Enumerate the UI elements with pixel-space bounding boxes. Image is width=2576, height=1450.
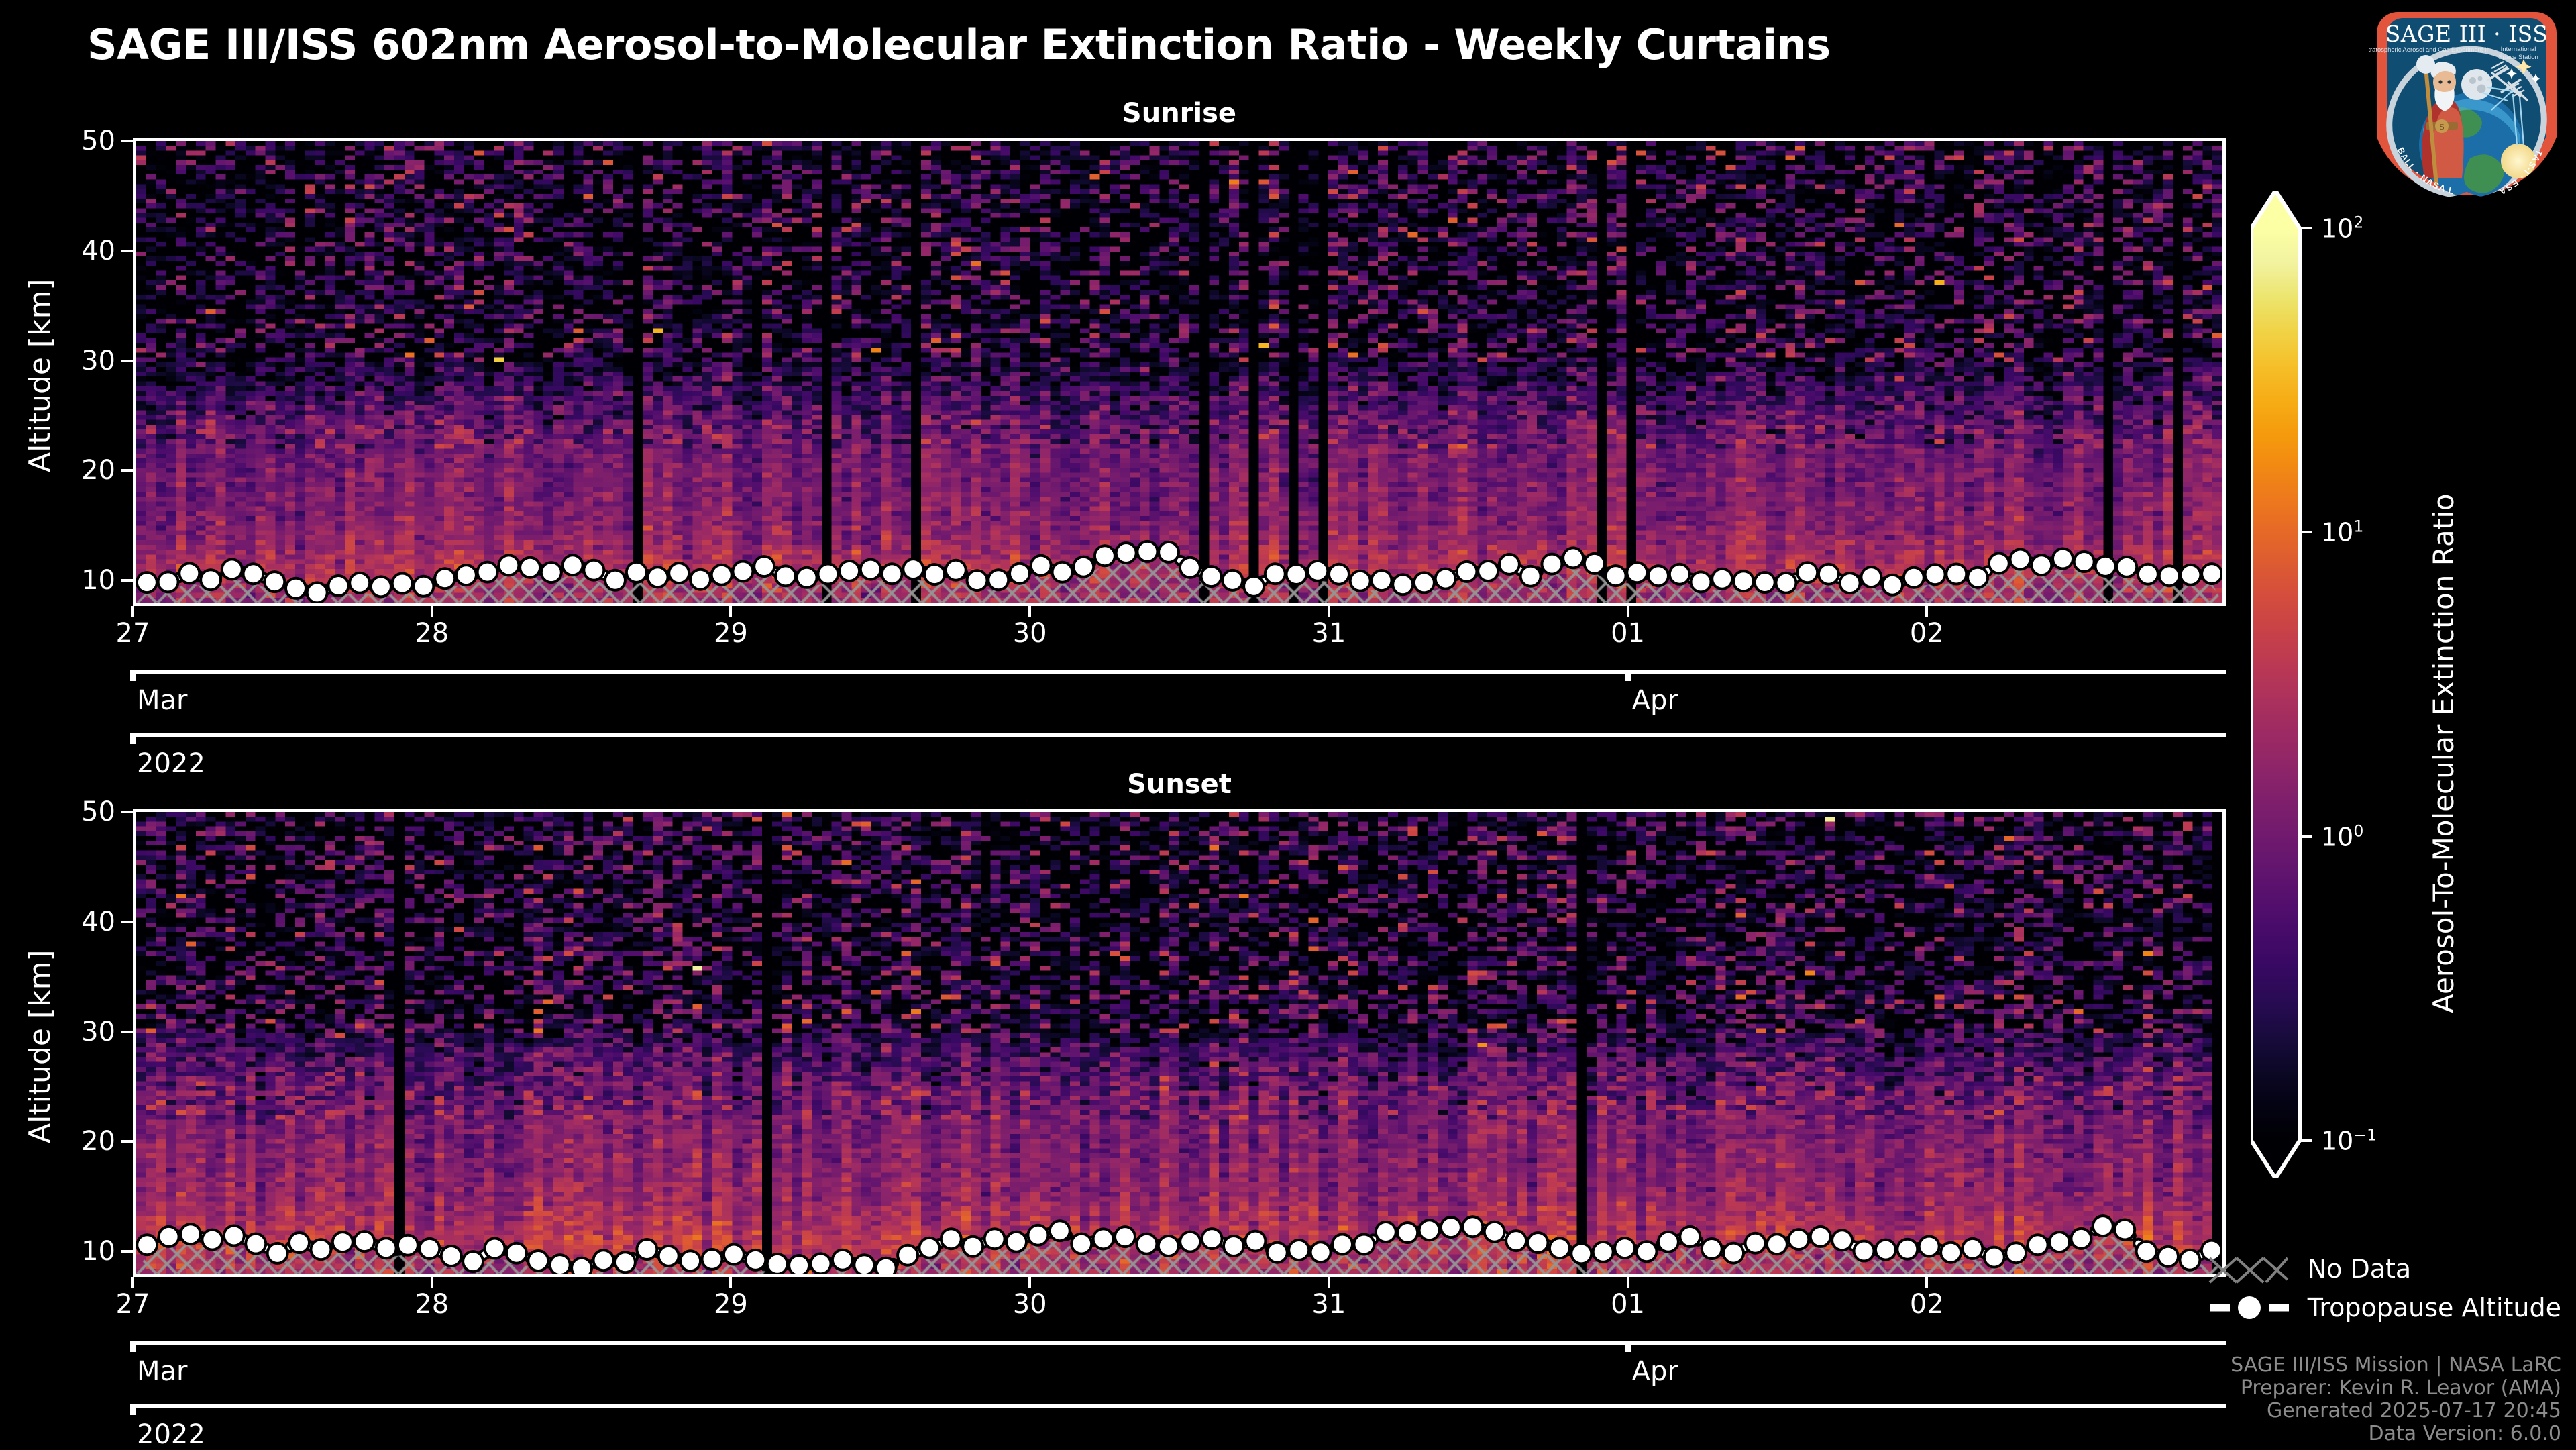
x-tick-label-sunrise-01: 01 [1611,618,1645,649]
y-tick-mark-sunrise-50 [121,140,133,142]
x-month-tick-sunset-1 [1625,1341,1631,1352]
heatmap-panel-sunset[interactable] [133,809,2226,1277]
x-tick-mark-sunrise-02 [1925,606,1928,617]
sage-iii-iss-mission-patch-logo: S BALL · NASA LANGLEY RESEARCH CENTER TA… [2369,3,2564,197]
x-tick-label-sunrise-30: 30 [1013,618,1047,649]
y-tick-mark-sunrise-30 [121,360,133,362]
panel-title-sunset: Sunset [133,769,2226,800]
x-tick-mark-sunrise-01 [1627,606,1629,617]
x-year-label-sunset-0: 2022 [137,1419,205,1450]
y-tick-mark-sunset-40 [121,921,133,923]
y-tick-label-sunset-20: 20 [81,1126,115,1157]
colorbar-tick-mark-3 [2300,227,2312,229]
x-tick-label-sunrise-31: 31 [1311,618,1346,649]
y-tick-label-sunrise-40: 40 [81,236,115,266]
heatmap-panel-sunrise[interactable] [133,138,2226,606]
colorbar-tick-label-1: 100 [2321,821,2363,851]
legend-item-tropopause: Tropopause Altitude [2208,1288,2561,1327]
x-month-label-sunset-1: Apr [1632,1356,1678,1387]
svg-text:Stratospheric Aerosol and Gas: Stratospheric Aerosol and Gas Experiment… [2369,46,2490,53]
y-tick-label-sunrise-20: 20 [81,455,115,486]
colorbar-tick-label-2: 101 [2321,517,2363,548]
legend-label-no-data: No Data [2308,1254,2412,1284]
x-tick-mark-sunrise-28 [431,606,433,617]
x-tick-mark-sunset-27 [131,1277,134,1288]
y-tick-label-sunrise-30: 30 [81,346,115,376]
x-tick-label-sunrise-02: 02 [1910,618,1944,649]
x-tick-mark-sunset-02 [1925,1277,1928,1288]
x-month-label-sunset-0: Mar [137,1356,187,1387]
tropopause-line-swatch [2208,1292,2290,1324]
x-month-rule-sunset [133,1341,2226,1345]
no-data-hatch-swatch [2208,1253,2290,1285]
footer-credits: SAGE III/ISS Mission | NASA LaRC Prepare… [2231,1354,2561,1445]
y-tick-label-sunset-40: 40 [81,907,115,937]
legend: No Data Tropopause Altitude [2208,1249,2561,1327]
y-tick-label-sunrise-50: 50 [81,125,115,156]
y-tick-label-sunset-10: 10 [81,1236,115,1267]
tropopause-altitude-series-sunrise [136,141,2222,603]
x-month-tick-sunrise-1 [1625,670,1631,681]
footer-line-mission: SAGE III/ISS Mission | NASA LaRC [2231,1354,2561,1377]
colorbar-gradient [2251,228,2300,1141]
svg-text:S: S [2439,123,2445,132]
y-tick-mark-sunrise-20 [121,469,133,472]
colorbar-tick-label-0: 10−1 [2321,1126,2377,1156]
y-tick-label-sunset-30: 30 [81,1017,115,1047]
y-tick-mark-sunrise-10 [121,579,133,582]
colorbar-tick-mark-1 [2300,835,2312,838]
x-tick-label-sunrise-28: 28 [415,618,449,649]
x-month-tick-sunrise-0 [130,670,136,681]
y-tick-mark-sunset-30 [121,1031,133,1033]
y-tick-label-sunrise-10: 10 [81,565,115,596]
x-tick-mark-sunset-29 [729,1277,732,1288]
x-tick-label-sunset-28: 28 [415,1289,449,1320]
x-tick-label-sunrise-29: 29 [714,618,748,649]
x-tick-label-sunset-02: 02 [1910,1289,1944,1320]
panel-title-sunrise: Sunrise [133,98,2226,129]
y-tick-mark-sunset-10 [121,1250,133,1253]
x-tick-mark-sunrise-31 [1328,606,1330,617]
x-month-rule-sunrise [133,670,2226,674]
footer-line-version: Data Version: 6.0.0 [2231,1422,2561,1445]
x-year-tick-sunset-0 [130,1404,136,1415]
y-tick-mark-sunrise-40 [121,250,133,252]
colorbar-tick-mark-0 [2300,1139,2312,1142]
svg-text:Space Station: Space Station [2498,54,2538,61]
x-tick-label-sunset-29: 29 [714,1289,748,1320]
svg-text:SAGE III · ISS: SAGE III · ISS [2385,21,2548,47]
y-axis-label-sunrise: Altitude [km] [23,278,57,472]
y-tick-label-sunset-50: 50 [81,796,115,827]
x-tick-mark-sunrise-27 [131,606,134,617]
x-tick-mark-sunrise-29 [729,606,732,617]
x-tick-mark-sunset-28 [431,1277,433,1288]
page-title: SAGE III/ISS 602nm Aerosol-to-Molecular … [87,20,2234,69]
legend-item-no-data: No Data [2208,1249,2561,1288]
footer-line-generated: Generated 2025-07-17 20:45 [2231,1400,2561,1422]
x-year-rule-sunrise [133,733,2226,737]
y-tick-mark-sunset-20 [121,1140,133,1143]
x-tick-mark-sunset-30 [1028,1277,1031,1288]
x-tick-mark-sunset-01 [1627,1277,1629,1288]
legend-label-tropopause: Tropopause Altitude [2308,1293,2561,1323]
x-year-tick-sunrise-0 [130,733,136,744]
x-tick-label-sunset-30: 30 [1013,1289,1047,1320]
x-tick-label-sunset-01: 01 [1611,1289,1645,1320]
colorbar-axis-label: Aerosol-To-Molecular Extinction Ratio [2427,493,2460,1013]
x-tick-mark-sunset-31 [1328,1277,1330,1288]
y-axis-label-sunset: Altitude [km] [23,949,57,1143]
x-month-label-sunrise-1: Apr [1632,685,1678,716]
svg-text:International: International [2501,46,2536,53]
x-month-label-sunrise-0: Mar [137,685,187,716]
colorbar[interactable]: 10−1100101102 [2251,191,2514,1178]
colorbar-tick-label-3: 102 [2321,213,2363,244]
footer-line-preparer: Preparer: Kevin R. Leavor (AMA) [2231,1377,2561,1400]
x-month-tick-sunset-0 [130,1341,136,1352]
x-tick-label-sunset-31: 31 [1311,1289,1346,1320]
x-year-rule-sunset [133,1404,2226,1408]
x-tick-label-sunrise-27: 27 [116,618,150,649]
x-tick-label-sunset-27: 27 [116,1289,150,1320]
x-tick-mark-sunrise-30 [1028,606,1031,617]
y-tick-mark-sunset-50 [121,811,133,813]
tropopause-altitude-series-sunset [136,812,2222,1274]
colorbar-tick-mark-2 [2300,531,2312,533]
